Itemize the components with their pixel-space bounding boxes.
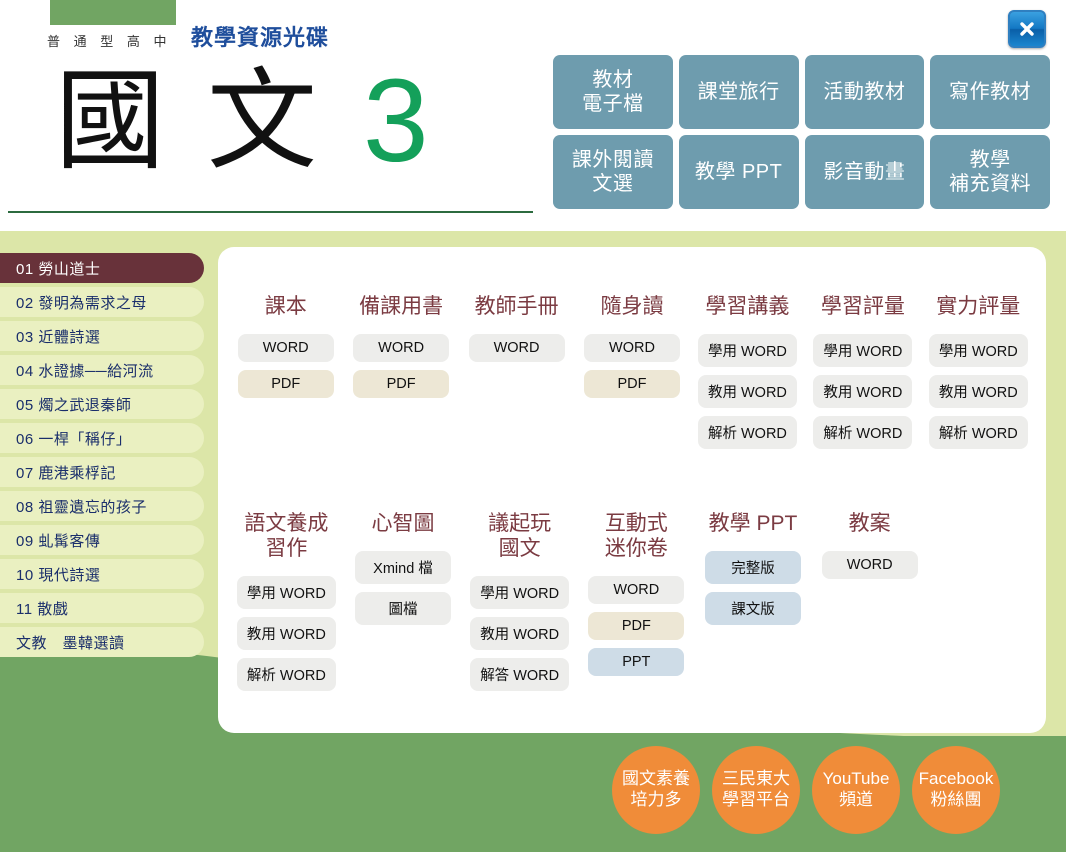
subject-volume-number: 3 [363,62,429,180]
resource-chip-word[interactable]: 學用 WORD [698,334,797,367]
resource-chip-word[interactable]: 教用 WORD [237,617,336,650]
resource-column-header: 教學 PPT [709,512,798,537]
resource-row-2: 語文養成習作學用 WORD教用 WORD解析 WORD心智圖Xmind 檔圖檔議… [228,512,928,699]
resource-column-header: 議起玩國文 [488,512,551,562]
resource-chip-ppt[interactable]: 課文版 [705,592,801,625]
sidebar-item-label: 09 虬髯客傳 [16,530,100,551]
sidebar-item-label: 文教 墨韓選讀 [16,632,125,653]
nav-activity-material[interactable]: 活動教材 [805,55,925,129]
resource-column-header: 教案 [849,512,891,537]
resource-chip-word[interactable]: 教用 WORD [698,375,797,408]
resource-chip-word[interactable]: 學用 WORD [470,576,569,609]
content-stage: 01 勞山道士02 發明為需求之母03 近體詩選04 水證據──給河流05 燭之… [0,231,1066,852]
sidebar-item-6[interactable]: 06 一桿「稱仔」 [0,423,204,453]
nav-teaching-ppt[interactable]: 教學 PPT [679,135,799,209]
resource-chip-word[interactable]: 學用 WORD [929,334,1028,367]
resource-column-header: 教師手冊 [475,295,559,320]
resource-column: 心智圖Xmind 檔圖檔 [345,512,462,699]
header-divider [8,211,533,213]
sidebar-item-2[interactable]: 02 發明為需求之母 [0,287,204,317]
nav-button-label: 教學補充資料 [949,148,1031,197]
circle-literacy-program[interactable]: 國文素養培力多 [612,746,700,834]
nav-button-label: 課外閱讀文選 [572,148,654,197]
resource-column-header: 學習講義 [705,295,789,320]
resource-chip-ppt[interactable]: 完整版 [705,551,801,584]
resource-chip-word[interactable]: 解析 WORD [813,416,912,449]
subject-char-1: 國 [55,66,165,176]
circle-youtube-channel[interactable]: YouTube頻道 [812,746,900,834]
resource-chip-word[interactable]: 學用 WORD [237,576,336,609]
sidebar-item-3[interactable]: 03 近體詩選 [0,321,204,351]
resource-column: 學習講義學用 WORD教用 WORD解析 WORD [690,295,805,457]
resource-column: 實力評量學用 WORD教用 WORD解析 WORD [921,295,1036,457]
resource-column-header: 互動式迷你卷 [605,512,668,562]
resource-column: 語文養成習作學用 WORD教用 WORD解析 WORD [228,512,345,699]
sidebar-item-7[interactable]: 07 鹿港乘桴記 [0,457,204,487]
brand-title: 教學資源光碟 [191,20,329,52]
chapter-sidebar: 01 勞山道士02 發明為需求之母03 近體詩選04 水證據──給河流05 燭之… [0,253,204,661]
nav-button-label: 課堂旅行 [698,80,780,104]
sidebar-item-5[interactable]: 05 燭之武退秦師 [0,389,204,419]
resource-chip-word[interactable]: WORD [469,334,565,362]
resource-column-header: 隨身讀 [600,295,663,320]
footer-link-circles: 國文素養培力多三民東大學習平台YouTube頻道Facebook粉絲團 [612,746,1000,834]
resource-chip-word[interactable]: WORD [584,334,680,362]
sidebar-item-label: 02 發明為需求之母 [16,292,147,313]
nav-button-label: 教學 PPT [695,160,782,184]
sidebar-item-label: 05 燭之武退秦師 [16,394,131,415]
nav-textbook-ebook[interactable]: 教材電子檔 [553,55,673,129]
circle-label: Facebook粉絲團 [919,769,994,810]
resource-chip-word[interactable]: 圖檔 [355,592,451,625]
resource-column: 隨身讀WORDPDF [574,295,689,457]
page-header: 普 通 型 高 中 教學資源光碟 國 文 3 教材電子檔課堂旅行活動教材寫作教材… [0,0,1066,228]
nav-button-label: 教材電子檔 [582,68,644,117]
resource-column-header: 學習評量 [821,295,905,320]
resource-row-1: 課本WORDPDF備課用書WORDPDF教師手冊WORD隨身讀WORDPDF學習… [228,295,1036,457]
sidebar-item-label: 08 祖靈遺忘的孩子 [16,496,147,517]
resource-chip-pdf[interactable]: PDF [238,370,334,398]
circle-label: YouTube頻道 [823,769,890,810]
resource-column: 課本WORDPDF [228,295,343,457]
resource-chip-word[interactable]: 教用 WORD [470,617,569,650]
resource-chip-word[interactable]: WORD [238,334,334,362]
resource-chip-word[interactable]: 解析 WORD [929,416,1028,449]
resource-column: 教師手冊WORD [459,295,574,457]
sidebar-item-11[interactable]: 11 散戲 [0,593,204,623]
resource-column: 議起玩國文學用 WORD教用 WORD解答 WORD [461,512,578,699]
resource-column: 備課用書WORDPDF [343,295,458,457]
resource-column-header: 備課用書 [359,295,443,320]
resource-column-header: 課本 [265,295,307,320]
nav-video-animation[interactable]: 影音動畫 [805,135,925,209]
nav-writing-material[interactable]: 寫作教材 [930,55,1050,129]
sidebar-item-label: 01 勞山道士 [16,258,100,279]
nav-button-label: 影音動畫 [823,160,905,184]
sidebar-item-9[interactable]: 09 虬髯客傳 [0,525,204,555]
sidebar-item-label: 11 散戲 [16,598,68,619]
resource-chip-word[interactable]: WORD [588,576,684,604]
top-navigation: 教材電子檔課堂旅行活動教材寫作教材課外閱讀文選教學 PPT影音動畫教學補充資料 [553,55,1050,209]
resource-chip-word[interactable]: 解答 WORD [470,658,569,691]
nav-button-label: 活動教材 [823,80,905,104]
resource-column: 教學 PPT完整版課文版 [695,512,812,699]
nav-class-trip[interactable]: 課堂旅行 [679,55,799,129]
sidebar-item-label: 04 水證據──給河流 [16,360,154,381]
resource-chip-word[interactable]: 學用 WORD [813,334,912,367]
sidebar-item-label: 03 近體詩選 [16,326,100,347]
circle-label: 國文素養培力多 [622,769,690,810]
nav-extracurricular-reading[interactable]: 課外閱讀文選 [553,135,673,209]
resource-chip-word[interactable]: 解析 WORD [698,416,797,449]
sidebar-item-label: 06 一桿「稱仔」 [16,428,131,449]
resource-chip-word[interactable]: Xmind 檔 [355,551,451,584]
sidebar-item-10[interactable]: 10 現代詩選 [0,559,204,589]
resource-chip-word[interactable]: 教用 WORD [929,375,1028,408]
nav-button-label: 寫作教材 [949,80,1031,104]
resource-chip-pdf[interactable]: PDF [353,370,449,398]
brand-subtitle: 普 通 型 高 中 [47,31,179,50]
resource-column-header: 心智圖 [371,512,434,537]
resource-chip-ppt[interactable]: PPT [588,648,684,676]
subject-char-2: 文 [207,66,317,176]
sidebar-item-label: 10 現代詩選 [16,564,100,585]
sidebar-item-8[interactable]: 08 祖靈遺忘的孩子 [0,491,204,521]
brand-color-block [50,0,176,25]
resource-chip-word[interactable]: 教用 WORD [813,375,912,408]
resource-chip-word[interactable]: 解析 WORD [237,658,336,691]
resource-column: 互動式迷你卷WORDPDFPPT [578,512,695,699]
app-root: 普 通 型 高 中 教學資源光碟 國 文 3 教材電子檔課堂旅行活動教材寫作教材… [0,0,1066,852]
resource-column-header: 實力評量 [936,295,1020,320]
resource-card: 課本WORDPDF備課用書WORDPDF教師手冊WORD隨身讀WORDPDF學習… [218,247,1046,733]
subject-title: 國 文 3 [55,56,429,186]
sidebar-item-label: 07 鹿港乘桴記 [16,462,116,483]
circle-label: 三民東大學習平台 [722,769,790,810]
circle-facebook-page[interactable]: Facebook粉絲團 [912,746,1000,834]
circle-learning-platform[interactable]: 三民東大學習平台 [712,746,800,834]
nav-supplementary-material[interactable]: 教學補充資料 [930,135,1050,209]
sidebar-item-12[interactable]: 文教 墨韓選讀 [0,627,204,657]
resource-chip-pdf[interactable]: PDF [584,370,680,398]
resource-chip-word[interactable]: WORD [353,334,449,362]
sidebar-item-4[interactable]: 04 水證據──給河流 [0,355,204,385]
resource-chip-pdf[interactable]: PDF [588,612,684,640]
resource-column: 學習評量學用 WORD教用 WORD解析 WORD [805,295,920,457]
resource-column: 教案WORD [811,512,928,699]
resource-column-header: 語文養成習作 [244,512,328,562]
resource-chip-word[interactable]: WORD [822,551,918,579]
close-icon[interactable] [1008,10,1046,48]
sidebar-item-1[interactable]: 01 勞山道士 [0,253,204,283]
